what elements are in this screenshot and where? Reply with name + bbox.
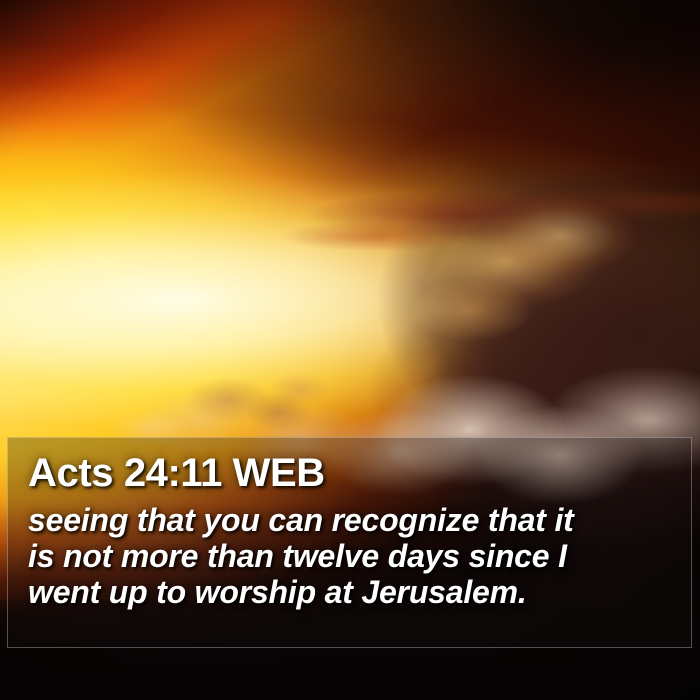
verse-text-line-3: went up to worship at Jerusalem.: [28, 574, 685, 610]
verse-reference: Acts 24:11 WEB: [28, 450, 691, 496]
verse-text-line-2: is not more than twelve days since I: [28, 538, 685, 574]
verse-caption-panel: Acts 24:11 WEB seeing that you can recog…: [7, 437, 692, 648]
verse-image-card: Acts 24:11 WEB seeing that you can recog…: [0, 0, 700, 700]
verse-text-line-1: seeing that you can recognize that it: [28, 502, 685, 538]
verse-text: seeing that you can recognize that it is…: [28, 502, 691, 610]
